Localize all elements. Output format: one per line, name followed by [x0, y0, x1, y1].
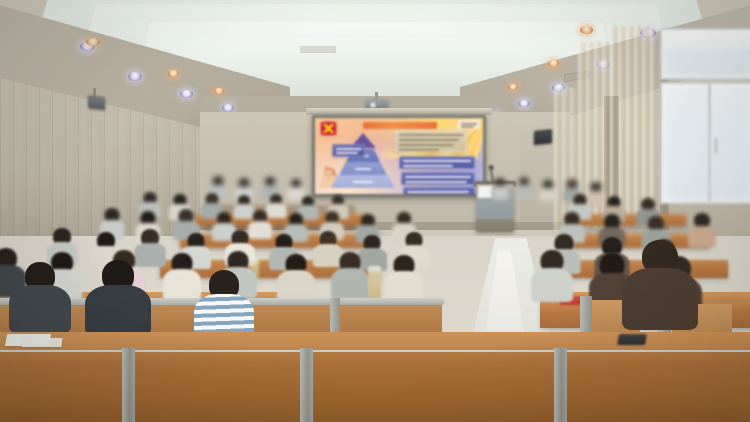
- foreground-seat-post: [122, 348, 135, 422]
- projection-screen-roller: [306, 108, 492, 115]
- downlight-icon: [128, 72, 142, 81]
- window-mullion: [708, 84, 711, 202]
- warm-downlight-icon: [168, 70, 179, 77]
- warm-downlight-icon: [580, 26, 593, 34]
- slide-corner-note: [458, 120, 480, 129]
- papers-on-desk: [21, 338, 62, 347]
- warm-downlight-icon: [548, 60, 559, 67]
- window-upper: [660, 28, 750, 80]
- warm-downlight-icon: [214, 88, 224, 94]
- slide-callout-top-right: [395, 130, 467, 152]
- window-handle: [714, 138, 718, 154]
- downlight-icon: [518, 100, 530, 107]
- foreground-seat-post: [300, 348, 313, 422]
- foreground-seat-post: [554, 348, 567, 422]
- slide-title-banner: [363, 122, 437, 129]
- pyramid-tier-3-label: [355, 168, 371, 170]
- window-lower: [660, 82, 750, 204]
- slide-callout-left: [332, 144, 365, 157]
- smartphone-on-desk: [617, 334, 647, 345]
- lecture-hall-photo: Lecture hall meeting with projected pres…: [0, 0, 750, 422]
- ceiling-vent: [300, 46, 336, 53]
- downlight-icon: [180, 90, 193, 98]
- water-bottle: [368, 266, 381, 302]
- slide-callout-right-1: [399, 156, 475, 169]
- downlight-icon: [222, 104, 234, 112]
- projection-screen: [312, 115, 486, 197]
- presentation-slide: [315, 118, 483, 194]
- party-emblem-icon: [321, 122, 336, 135]
- wall-speaker-right: [534, 129, 552, 145]
- warm-downlight-icon: [508, 84, 518, 90]
- podium-papers: [478, 186, 493, 198]
- pyramid-tier-4-label: [353, 181, 373, 183]
- wall-speaker-left: [88, 95, 105, 110]
- slide-callout-right-2: [401, 172, 475, 185]
- warm-downlight-icon: [86, 38, 100, 46]
- slide-callout-bottom: [403, 187, 475, 194]
- foreground-desk-front: [0, 352, 750, 422]
- sky-view: [662, 30, 750, 50]
